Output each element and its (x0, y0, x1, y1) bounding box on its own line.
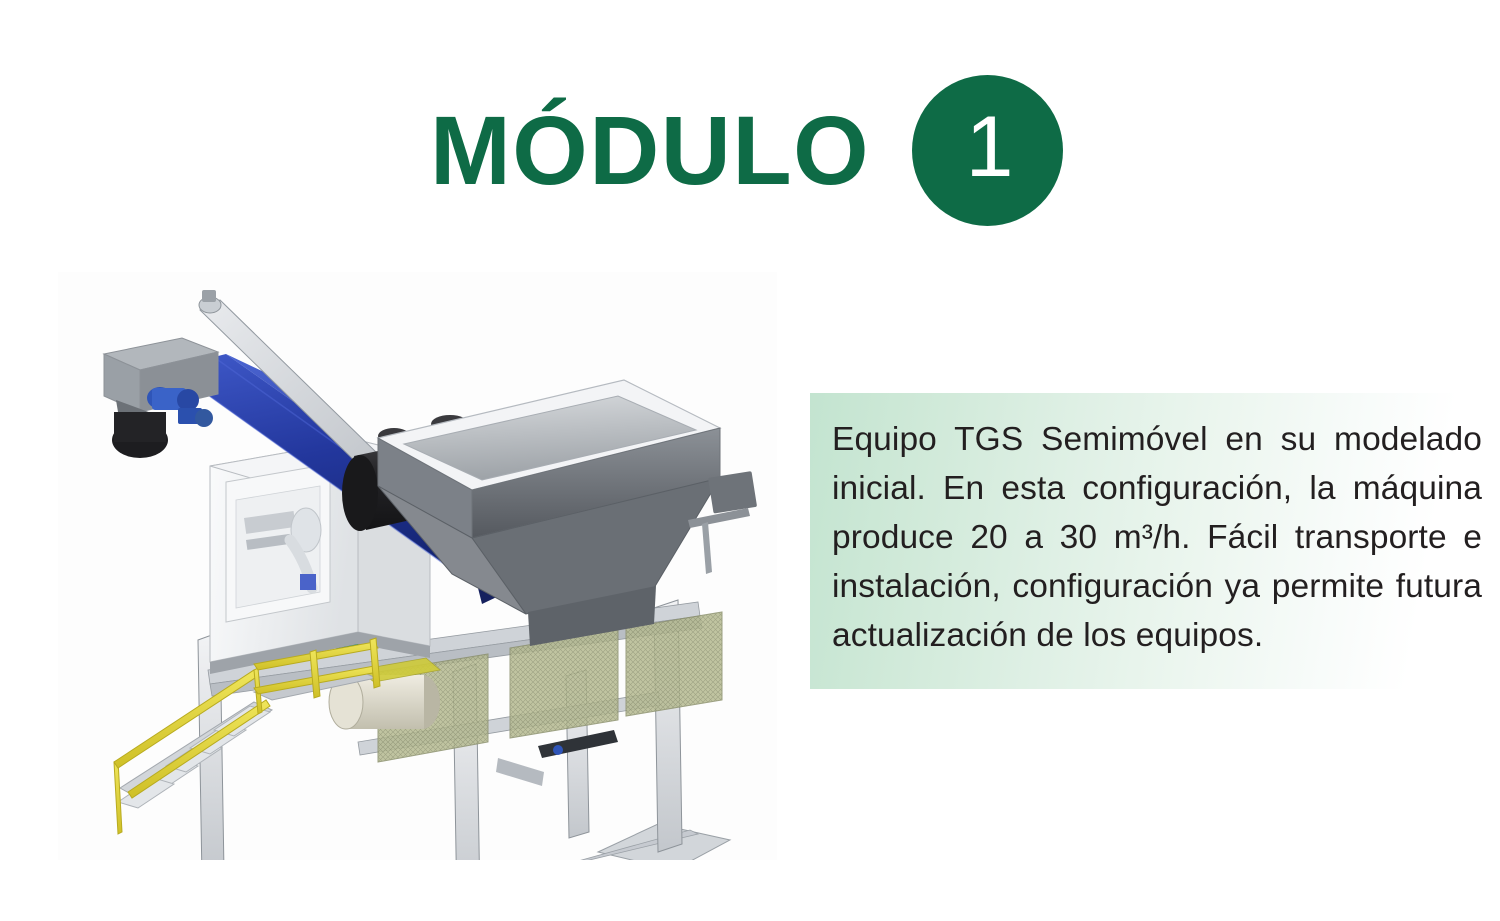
slide-canvas: MÓDULO 1 (0, 0, 1500, 921)
page-title: MÓDULO (430, 102, 870, 199)
module-number-badge: 1 (912, 75, 1063, 226)
misc-fittings (496, 730, 618, 786)
machine-render-image (58, 272, 777, 860)
module-number-label: 1 (966, 104, 1014, 190)
skid-base-rails (158, 824, 730, 860)
caption-text: Equipo TGS Semimóvel en su modelado inic… (832, 415, 1482, 660)
caption-panel: Equipo TGS Semimóvel en su modelado inic… (810, 393, 1478, 689)
slide-header: MÓDULO 1 (430, 60, 1110, 240)
illustration-panel (58, 272, 777, 860)
